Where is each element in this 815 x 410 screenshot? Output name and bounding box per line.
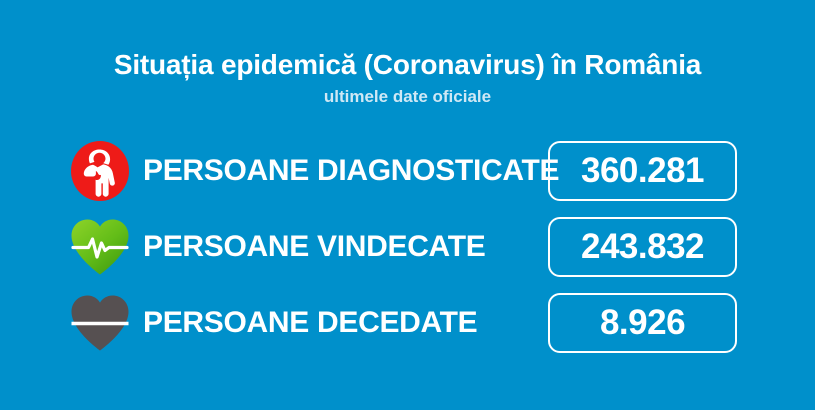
stat-label-diagnosed: PERSOANE DIAGNOSTICATE: [143, 154, 559, 188]
stat-value-box-recovered: 243.832: [548, 217, 737, 277]
page-subtitle: ultimele date oficiale: [0, 86, 815, 108]
stat-row-diagnosed: PERSOANE DIAGNOSTICATE 360.281: [0, 133, 815, 208]
sick-person-icon: [70, 140, 130, 202]
stat-value-recovered: 243.832: [581, 228, 704, 266]
stat-label-deceased: PERSOANE DECEDATE: [143, 306, 477, 340]
stat-label-recovered: PERSOANE VINDECATE: [143, 230, 485, 264]
stat-value-deceased: 8.926: [600, 304, 685, 342]
coronavirus-stats-infographic: Situația epidemică (Coronavirus) în Româ…: [0, 0, 815, 410]
heart-flatline-icon: [70, 292, 130, 354]
page-title: Situația epidemică (Coronavirus) în Româ…: [0, 48, 815, 82]
stats-list: PERSOANE DIAGNOSTICATE 360.281: [0, 133, 815, 361]
stat-value-box-diagnosed: 360.281: [548, 141, 737, 201]
heart-pulse-icon: [70, 216, 130, 278]
header: Situația epidemică (Coronavirus) în Româ…: [0, 48, 815, 108]
stat-row-deceased: PERSOANE DECEDATE 8.926: [0, 285, 815, 360]
stat-value-diagnosed: 360.281: [581, 152, 704, 190]
stat-row-recovered: PERSOANE VINDECATE 243.832: [0, 209, 815, 284]
stat-value-box-deceased: 8.926: [548, 293, 737, 353]
